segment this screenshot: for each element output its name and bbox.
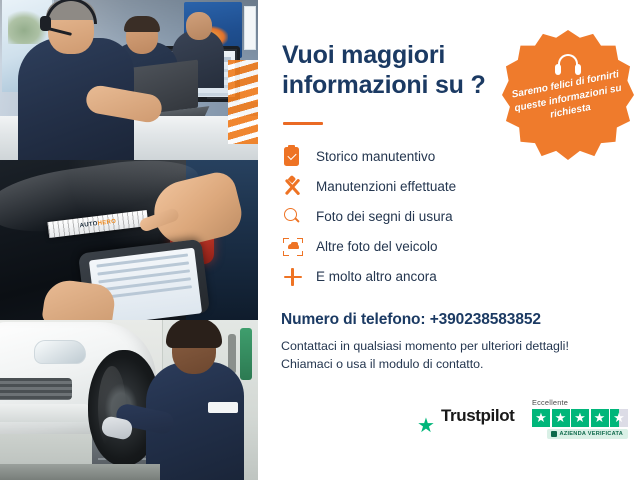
trustpilot-rating: Eccellente ★ ★ ★ ★ ★ bbox=[532, 398, 632, 427]
feature-label: Foto dei segni di usura bbox=[316, 208, 453, 226]
magnifier-icon bbox=[280, 206, 306, 228]
trustpilot-rating-label: Eccellente bbox=[532, 398, 632, 407]
wall-notice bbox=[244, 6, 256, 50]
feature-list: Storico manutentivo Manutenzioni effettu… bbox=[280, 142, 600, 292]
feature-item-molto-altro: E molto altro ancora bbox=[280, 262, 600, 292]
feature-label: Manutenzioni effettuate bbox=[316, 178, 456, 196]
feature-item-altre-foto-veicolo: Altre foto del veicolo bbox=[280, 232, 600, 262]
page-title-line2: informazioni su ? bbox=[282, 70, 532, 100]
verified-company-badge: AZIENDA VERIFICATA bbox=[547, 429, 628, 439]
star-filled: ★ bbox=[552, 409, 570, 427]
crossed-tools-icon bbox=[280, 176, 306, 198]
technician-hair bbox=[166, 320, 222, 348]
feature-label: E molto altro ancora bbox=[316, 268, 437, 286]
car-headlight bbox=[34, 340, 86, 364]
technician-wheel-photo bbox=[0, 320, 258, 480]
agent-hair bbox=[124, 16, 160, 32]
photo-column: AUTOHERO bbox=[0, 0, 258, 480]
plus-icon bbox=[280, 266, 306, 288]
title-divider bbox=[283, 122, 323, 125]
headset-icon bbox=[554, 54, 582, 76]
car-lift-platform bbox=[0, 464, 160, 480]
phone-number-heading[interactable]: Numero di telefono: +390238583852 bbox=[281, 311, 541, 329]
verified-label: AZIENDA VERIFICATA bbox=[560, 431, 623, 437]
uniform-badge bbox=[208, 402, 238, 413]
page-title-line1: Vuoi maggiori bbox=[282, 40, 532, 70]
star-filled: ★ bbox=[571, 409, 589, 427]
agent-head bbox=[186, 12, 212, 40]
feature-label: Storico manutentivo bbox=[316, 148, 435, 166]
safety-cones bbox=[228, 60, 258, 144]
clipboard-check-icon bbox=[280, 146, 306, 168]
foreground-agent bbox=[18, 38, 134, 160]
feature-item-storico-manutentivo: Storico manutentivo bbox=[280, 142, 600, 172]
autohero-info-banner: AUTOHERO bbox=[0, 0, 640, 480]
phone-description: Contattaci in qualsiasi momento per ulte… bbox=[281, 338, 631, 373]
phone-description-line2: Chiamaci o usa il modulo di contatto. bbox=[281, 356, 631, 374]
trustpilot-logo: ★ Trustpilot bbox=[417, 406, 514, 426]
feature-item-manutenzioni-effettuate: Manutenzioni effettuate bbox=[280, 172, 600, 202]
on-request-badge: Saremo felici di fornirti queste informa… bbox=[502, 30, 634, 160]
content-panel: Vuoi maggiori informazioni su ? Saremo f… bbox=[262, 0, 640, 480]
car-frame-icon bbox=[280, 236, 306, 258]
star-filled: ★ bbox=[591, 409, 609, 427]
wall-tool-green bbox=[240, 328, 252, 380]
car-inspection-ruler-photo: AUTOHERO bbox=[0, 160, 258, 320]
technician bbox=[146, 362, 244, 480]
headset-earcup-right bbox=[575, 64, 581, 75]
star-half: ★ bbox=[610, 409, 628, 427]
star-filled: ★ bbox=[532, 409, 550, 427]
trustpilot-stars: ★ ★ ★ ★ ★ bbox=[532, 409, 632, 427]
verified-check-icon bbox=[551, 431, 557, 437]
trustpilot-brand-name: Trustpilot bbox=[441, 406, 514, 426]
trustpilot-widget[interactable]: ★ Trustpilot Eccellente ★ ★ ★ ★ ★ AZIEND… bbox=[417, 398, 632, 450]
car-bumper bbox=[0, 404, 90, 422]
phone-description-line1: Contattaci in qualsiasi momento per ulte… bbox=[281, 338, 631, 356]
call-center-agents-photo bbox=[0, 0, 258, 160]
page-title: Vuoi maggiori informazioni su ? bbox=[282, 40, 532, 100]
headset-earcup-left bbox=[555, 64, 561, 75]
feature-item-foto-segni-usura: Foto dei segni di usura bbox=[280, 202, 600, 232]
feature-label: Altre foto del veicolo bbox=[316, 238, 438, 256]
car-grille bbox=[0, 378, 72, 400]
